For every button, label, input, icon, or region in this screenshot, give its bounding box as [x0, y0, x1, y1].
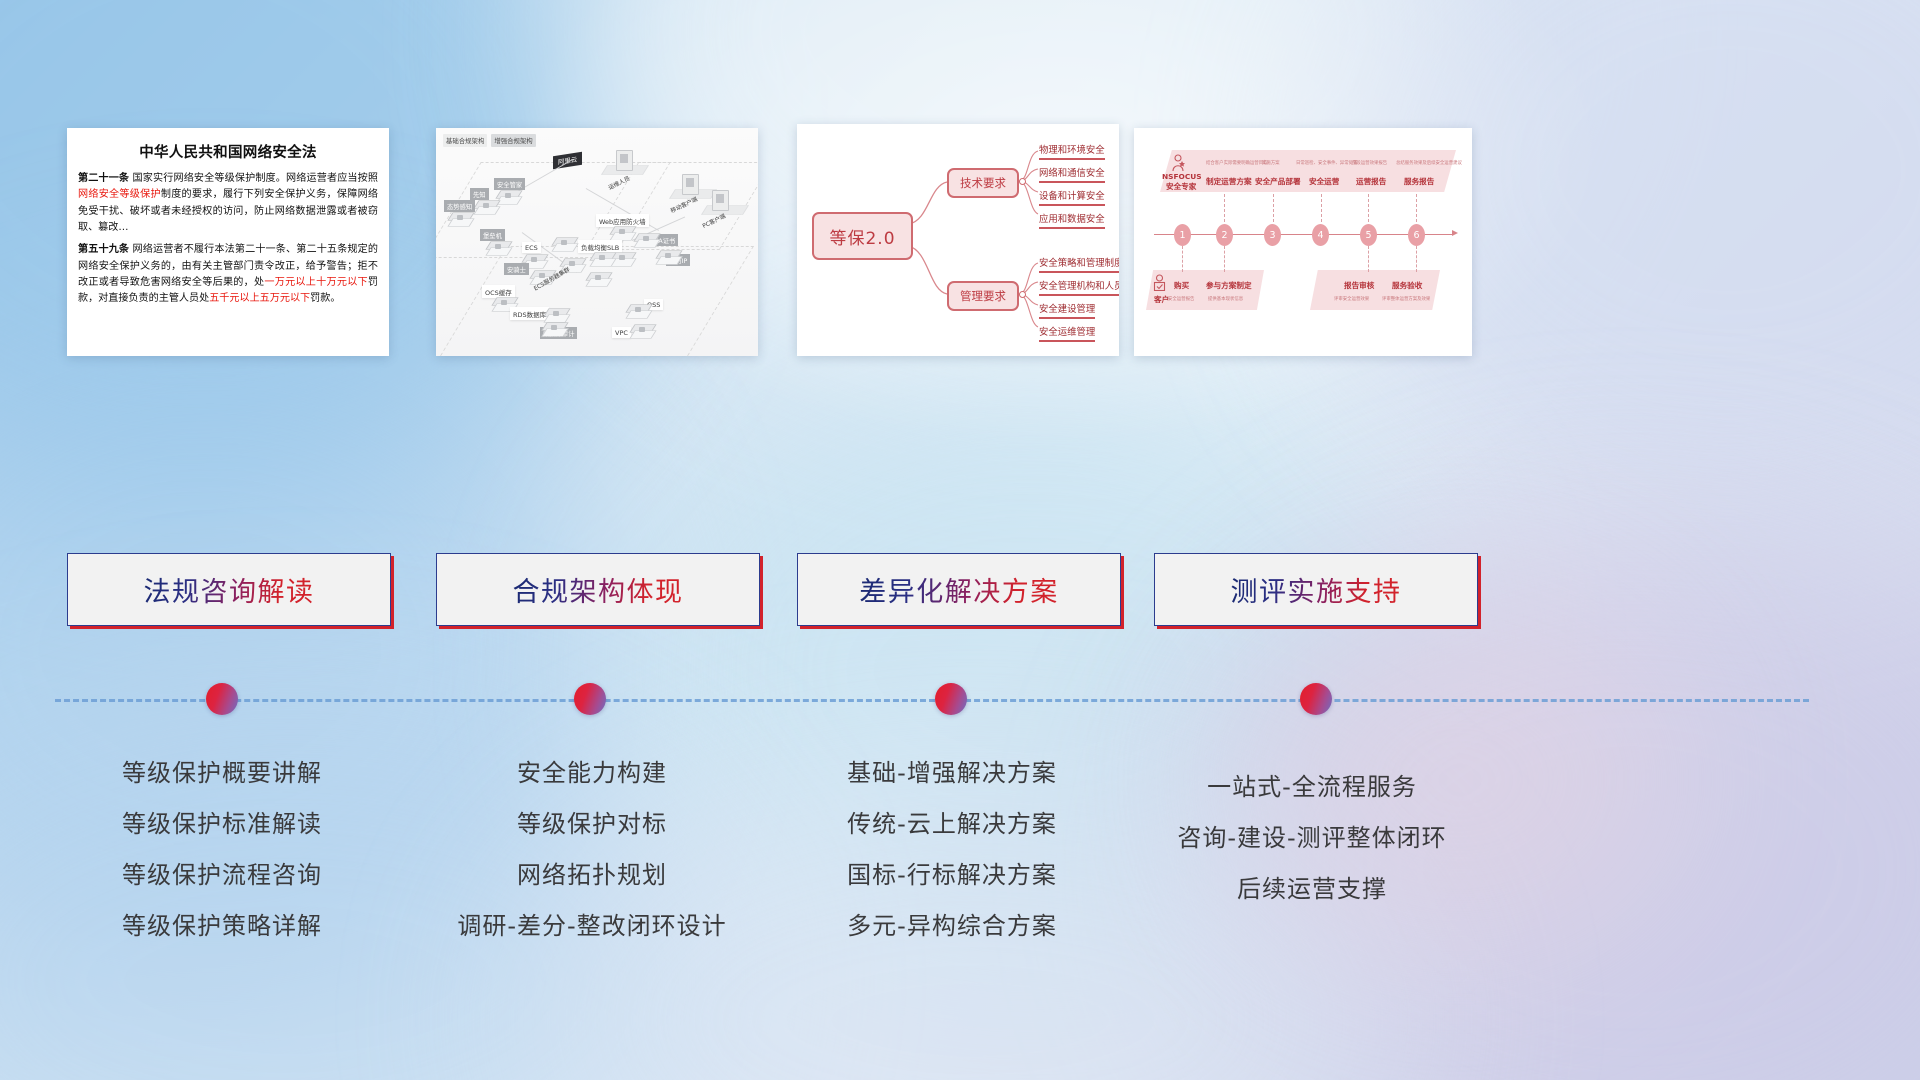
flow-top-sub-5: 总结服务效果及后续安全运营建议 — [1396, 160, 1462, 166]
mindmap-collapse-icon-management[interactable] — [1019, 291, 1026, 298]
node-icon-oss — [628, 302, 654, 322]
flow-top-title-3: 安全运营 — [1309, 176, 1339, 187]
node-icon-situational-awareness — [450, 210, 476, 230]
list-item: 等级保护对标 — [412, 799, 772, 850]
node-label-anqishi: 安骑士 — [504, 263, 529, 275]
list-item: 咨询-建设-测评整体闭环 — [1132, 813, 1492, 864]
flow-dash-6 — [1182, 246, 1183, 272]
architecture-tabs: 基础合规架构 增强合规架构 — [443, 134, 536, 147]
flow-step-5[interactable]: 5 — [1360, 224, 1377, 246]
mindmap-leaf-org-personnel: 安全管理机构和人员 — [1039, 278, 1119, 296]
timeline-dot-2[interactable] — [574, 683, 606, 715]
flow-bottom-sub-3: 评审安全运营效果 — [1334, 296, 1369, 302]
law-article-59: 第五十九条 网络运营者不履行本法第二十一条、第二十五条规定的网络安全保护义务的，… — [78, 242, 378, 307]
mindmap-branch-management[interactable]: 管理要求 — [947, 281, 1019, 311]
flow-bottom-sub-2: 提供基本现状信息 — [1208, 296, 1243, 302]
list-item: 等级保护标准解读 — [42, 799, 402, 850]
tab-basic-architecture[interactable]: 基础合规架构 — [443, 134, 487, 147]
list-item: 基础-增强解决方案 — [772, 748, 1132, 799]
mindmap-leaf-build-mgmt: 安全建设管理 — [1039, 301, 1095, 319]
mindmap-leaf-network-comm: 网络和通信安全 — [1039, 165, 1105, 183]
mindmap-leaf-device-compute: 设备和计算安全 — [1039, 188, 1105, 206]
card-service-flow[interactable]: NSFOCUS 安全专家 客户 结合客户实际需要明确运营目标 制定运营方案 实施… — [1134, 128, 1472, 356]
mindmap: 等保2.0 技术要求 管理要求 物理和环境安全 网络和通信安全 设备和计算安全 … — [797, 124, 1119, 356]
node-icon-bastion-host — [488, 239, 514, 259]
flow-dash-4 — [1368, 194, 1369, 222]
node-label-rds-database: RDS数据库 — [510, 307, 549, 320]
article-21-label: 第二十一条 — [78, 173, 129, 184]
list-item: 后续运营支撑 — [1132, 864, 1492, 915]
node-icon-database-audit — [544, 320, 570, 340]
article-59-highlight-2: 五千元以上五万元以下 — [209, 293, 310, 304]
column-regulation-consulting: 等级保护概要讲解 等级保护标准解读 等级保护流程咨询 等级保护策略详解 — [42, 748, 402, 952]
heading-label-2: 合规架构体现 — [513, 570, 684, 609]
flow-step-1[interactable]: 1 — [1174, 224, 1191, 246]
flow-dash-3 — [1321, 194, 1322, 222]
list-item: 等级保护概要讲解 — [42, 748, 402, 799]
flow-arrow-icon — [1452, 230, 1458, 236]
flow-step-3[interactable]: 3 — [1264, 224, 1281, 246]
list-item: 等级保护流程咨询 — [42, 850, 402, 901]
mindmap-leaf-ops-mgmt: 安全运维管理 — [1039, 324, 1095, 342]
tab-enhanced-architecture[interactable]: 增强合规架构 — [491, 134, 535, 147]
law-article-21: 第二十一条 国家实行网络安全等级保护制度。网络运营者应当按照网络安全等级保护制度… — [78, 171, 378, 236]
node-icon-vpc — [632, 322, 658, 342]
service-flow-diagram: NSFOCUS 安全专家 客户 结合客户实际需要明确运营目标 制定运营方案 实施… — [1134, 128, 1472, 356]
flow-top-title-5: 服务报告 — [1404, 176, 1434, 187]
list-item: 传统-云上解决方案 — [772, 799, 1132, 850]
node-icon-ops-person — [616, 150, 633, 171]
list-item: 安全能力构建 — [412, 748, 772, 799]
flow-bottom-sub-4: 评审整体运营方案及效果 — [1382, 296, 1430, 302]
node-icon-server-c — [588, 270, 614, 290]
timeline-dot-1[interactable] — [206, 683, 238, 715]
node-icon-anti-ddos-ip — [658, 248, 684, 268]
flow-step-2[interactable]: 2 — [1216, 224, 1233, 246]
flow-top-sub-2: 实施方案 — [1262, 160, 1280, 166]
heading-label-4: 测评实施支持 — [1231, 570, 1402, 609]
node-icon-pc-client — [712, 190, 729, 211]
mindmap-root-node[interactable]: 等保2.0 — [812, 212, 913, 260]
list-item: 调研-差分-整改闭环设计 — [412, 901, 772, 952]
flow-bottom-title-3: 报告审核 — [1344, 280, 1374, 291]
provider-role: 安全专家 — [1166, 181, 1196, 192]
flow-dash-1 — [1224, 194, 1225, 222]
timeline-dot-3[interactable] — [935, 683, 967, 715]
mindmap-leaf-policy-system: 安全策略和管理制度 — [1039, 255, 1119, 273]
mindmap-leaf-app-data: 应用和数据安全 — [1039, 211, 1105, 229]
card-compliance-architecture[interactable]: 基础合规架构 增强合规架构 阿里云 安全管家 先知 态势感知 堡垒机 ECS 安… — [436, 128, 758, 356]
flow-dash-9 — [1416, 246, 1417, 272]
slide-canvas: 中华人民共和国网络安全法 第二十一条 国家实行网络安全等级保护制度。网络运营者应… — [0, 0, 1920, 1080]
architecture-diagram: 基础合规架构 增强合规架构 阿里云 安全管家 先知 态势感知 堡垒机 ECS 安… — [436, 128, 758, 356]
flow-top-sub-3: 日常巡检、安全事件、异常处置 — [1296, 160, 1357, 166]
heading-box-compliance-architecture[interactable]: 合规架构体现 — [436, 553, 760, 626]
heading-box-assessment-support[interactable]: 测评实施支持 — [1154, 553, 1478, 626]
node-icon-xianzhi — [476, 198, 502, 218]
flow-top-title-4: 运营报告 — [1356, 176, 1386, 187]
column-assessment-support: 一站式-全流程服务 咨询-建设-测评整体闭环 后续运营支撑 — [1132, 762, 1492, 915]
timeline-dashed-line — [55, 699, 1809, 702]
article-21-text-1: 国家实行网络安全等级保护制度。网络运营者应当按照 — [129, 173, 378, 184]
provider-name: NSFOCUS — [1162, 172, 1202, 181]
node-icon-server-a — [554, 235, 580, 255]
mindmap-leaf-physical-env: 物理和环境安全 — [1039, 142, 1105, 160]
flow-dash-8 — [1368, 246, 1369, 272]
card-cybersecurity-law[interactable]: 中华人民共和国网络安全法 第二十一条 国家实行网络安全等级保护制度。网络运营者应… — [67, 128, 389, 356]
law-title: 中华人民共和国网络安全法 — [67, 141, 389, 162]
flow-step-6[interactable]: 6 — [1408, 224, 1425, 246]
column-compliance-architecture: 安全能力构建 等级保护对标 网络拓扑规划 调研-差分-整改闭环设计 — [412, 748, 772, 952]
flow-step-4[interactable]: 4 — [1312, 224, 1329, 246]
heading-box-differentiated-solution[interactable]: 差异化解决方案 — [797, 553, 1121, 626]
list-item: 等级保护策略详解 — [42, 901, 402, 952]
card-mindmap-dengbao[interactable]: 等保2.0 技术要求 管理要求 物理和环境安全 网络和通信安全 设备和计算安全 … — [797, 124, 1119, 356]
flow-dash-2 — [1273, 194, 1274, 222]
customer-role: 客户 — [1154, 294, 1169, 305]
list-item: 一站式-全流程服务 — [1132, 762, 1492, 813]
flow-bottom-title-1: 购买 — [1174, 280, 1189, 291]
list-item: 多元-异构综合方案 — [772, 901, 1132, 952]
mindmap-collapse-icon-technical[interactable] — [1019, 178, 1026, 185]
article-59-highlight-1: 一万元以上十万元以下 — [264, 277, 368, 288]
article-21-highlight: 网络安全等级保护 — [78, 189, 161, 200]
flow-dash-7 — [1224, 246, 1225, 272]
flow-bottom-sub-1: 安全运营报告 — [1168, 296, 1194, 302]
flow-bottom-title-4: 服务验收 — [1392, 280, 1422, 291]
customer-person-icon — [1152, 274, 1167, 291]
node-icon-server-d — [592, 250, 618, 270]
flow-top-sub-4: 阶段运营效果报告 — [1352, 160, 1387, 166]
flow-top-sub-1: 结合客户实际需要明确运营目标 — [1206, 160, 1267, 166]
flow-top-title-1: 制定运营方案 — [1206, 176, 1252, 187]
provider-person-icon — [1170, 154, 1186, 172]
list-item: 网络拓扑规划 — [412, 850, 772, 901]
heading-label-1: 法规咨询解读 — [144, 570, 315, 609]
column-differentiated-solution: 基础-增强解决方案 传统-云上解决方案 国标-行标解决方案 多元-异构综合方案 — [772, 748, 1132, 952]
law-body: 第二十一条 国家实行网络安全等级保护制度。网络运营者应当按照网络安全等级保护制度… — [67, 171, 389, 308]
flow-dash-5 — [1416, 194, 1417, 222]
flow-bottom-title-2: 参与方案制定 — [1206, 280, 1252, 291]
flow-top-title-2: 安全产品部署 — [1255, 176, 1301, 187]
article-59-text-3: 罚款。 — [310, 293, 340, 304]
heading-label-3: 差异化解决方案 — [859, 570, 1059, 609]
timeline-dot-4[interactable] — [1300, 683, 1332, 715]
article-59-label: 第五十九条 — [78, 244, 129, 255]
heading-box-regulation-consulting[interactable]: 法规咨询解读 — [67, 553, 391, 626]
mindmap-branch-technical[interactable]: 技术要求 — [947, 168, 1019, 198]
list-item: 国标-行标解决方案 — [772, 850, 1132, 901]
